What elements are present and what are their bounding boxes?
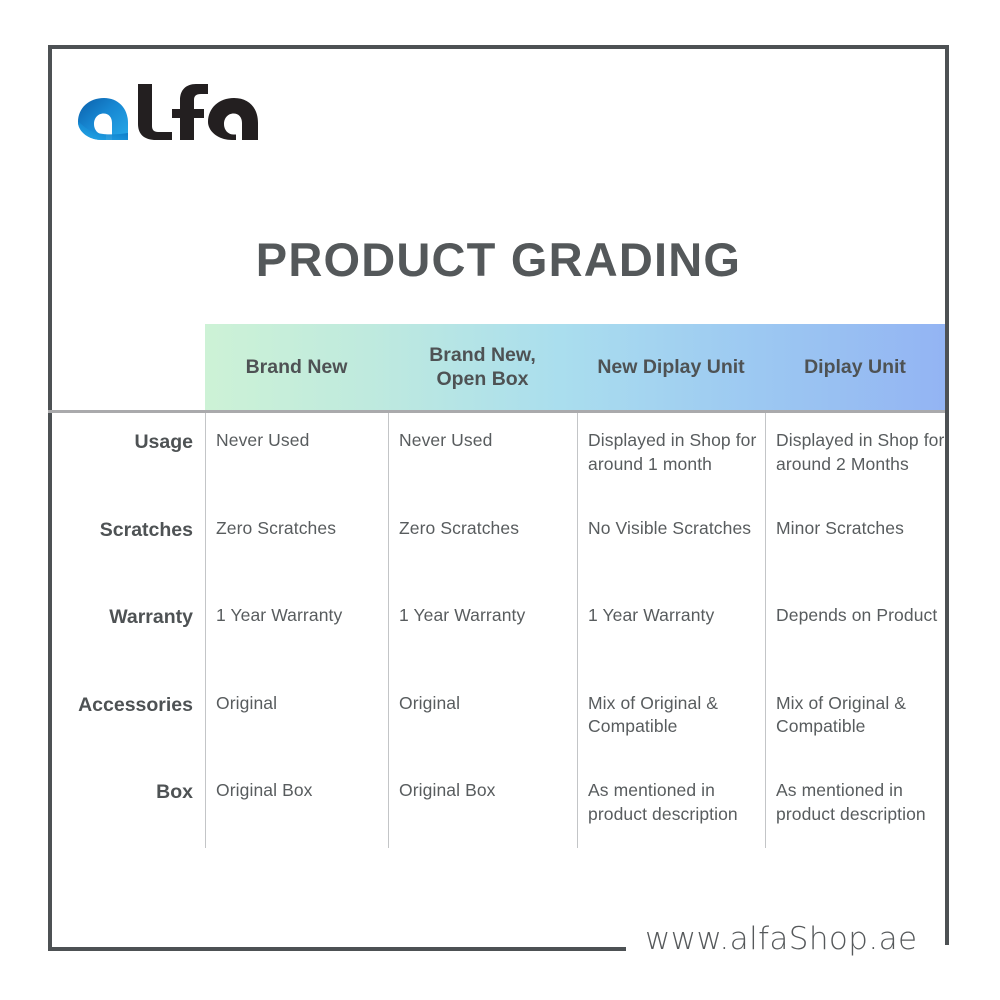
row-label-usage: Usage xyxy=(52,413,205,501)
table-header-gradient-band: Brand New Brand New, Open Box New Diplay… xyxy=(205,324,945,410)
column-header-label: Brand New xyxy=(246,355,348,379)
table-body: Usage Never Used Never Used Displayed in… xyxy=(52,410,945,851)
table-row: Box Original Box Original Box As mention… xyxy=(52,763,945,851)
row-label-scratches: Scratches xyxy=(52,501,205,589)
table-header-corner xyxy=(52,324,205,410)
page-title: PRODUCT GRADING xyxy=(52,232,945,287)
cell-scratches-open-box: Zero Scratches xyxy=(388,501,577,589)
column-header-new-display-unit: New Diplay Unit xyxy=(577,324,765,410)
cell-usage-open-box: Never Used xyxy=(388,413,577,501)
cell-warranty-display-unit: Depends on Product xyxy=(765,588,945,676)
cell-warranty-new-display-unit: 1 Year Warranty xyxy=(577,588,765,676)
row-label-accessories: Accessories xyxy=(52,676,205,764)
frame-border-bottom xyxy=(48,947,626,951)
table-header-row: Brand New Brand New, Open Box New Diplay… xyxy=(52,324,945,410)
row-label-box: Box xyxy=(52,763,205,851)
column-header-display-unit: Diplay Unit xyxy=(765,324,945,410)
table-row: Accessories Original Original Mix of Ori… xyxy=(52,676,945,764)
cell-usage-brand-new: Never Used xyxy=(205,413,388,501)
column-header-brand-new-open-box: Brand New, Open Box xyxy=(388,324,577,410)
cell-box-display-unit: As mentioned in product description xyxy=(765,763,945,851)
frame-border-top xyxy=(48,45,949,49)
cell-warranty-brand-new: 1 Year Warranty xyxy=(205,588,388,676)
column-header-brand-new: Brand New xyxy=(205,324,388,410)
cell-box-open-box: Original Box xyxy=(388,763,577,851)
cell-accessories-brand-new: Original xyxy=(205,676,388,764)
alfa-logo xyxy=(68,78,268,152)
column-header-label: Brand New, Open Box xyxy=(429,343,536,392)
frame-border-right xyxy=(945,45,949,945)
column-divider xyxy=(577,413,578,848)
cell-accessories-open-box: Original xyxy=(388,676,577,764)
column-header-label: New Diplay Unit xyxy=(597,355,744,379)
cell-box-new-display-unit: As mentioned in product description xyxy=(577,763,765,851)
cell-scratches-brand-new: Zero Scratches xyxy=(205,501,388,589)
footer-website-url: www.alfaShop.ae xyxy=(645,921,917,957)
table-row: Usage Never Used Never Used Displayed in… xyxy=(52,413,945,501)
column-divider xyxy=(765,413,766,848)
cell-scratches-new-display-unit: No Visible Scratches xyxy=(577,501,765,589)
table-row: Scratches Zero Scratches Zero Scratches … xyxy=(52,501,945,589)
cell-usage-new-display-unit: Displayed in Shop for around 1 month xyxy=(577,413,765,501)
cell-box-brand-new: Original Box xyxy=(205,763,388,851)
cell-accessories-display-unit: Mix of Original & Compatible xyxy=(765,676,945,764)
cell-scratches-display-unit: Minor Scratches xyxy=(765,501,945,589)
product-grading-table: Brand New Brand New, Open Box New Diplay… xyxy=(52,324,945,851)
column-divider xyxy=(388,413,389,848)
cell-usage-display-unit: Displayed in Shop for around 2 Months xyxy=(765,413,945,501)
cell-accessories-new-display-unit: Mix of Original & Compatible xyxy=(577,676,765,764)
column-header-label: Diplay Unit xyxy=(804,355,906,379)
column-divider xyxy=(205,413,206,848)
row-label-warranty: Warranty xyxy=(52,588,205,676)
table-row: Warranty 1 Year Warranty 1 Year Warranty… xyxy=(52,588,945,676)
cell-warranty-open-box: 1 Year Warranty xyxy=(388,588,577,676)
